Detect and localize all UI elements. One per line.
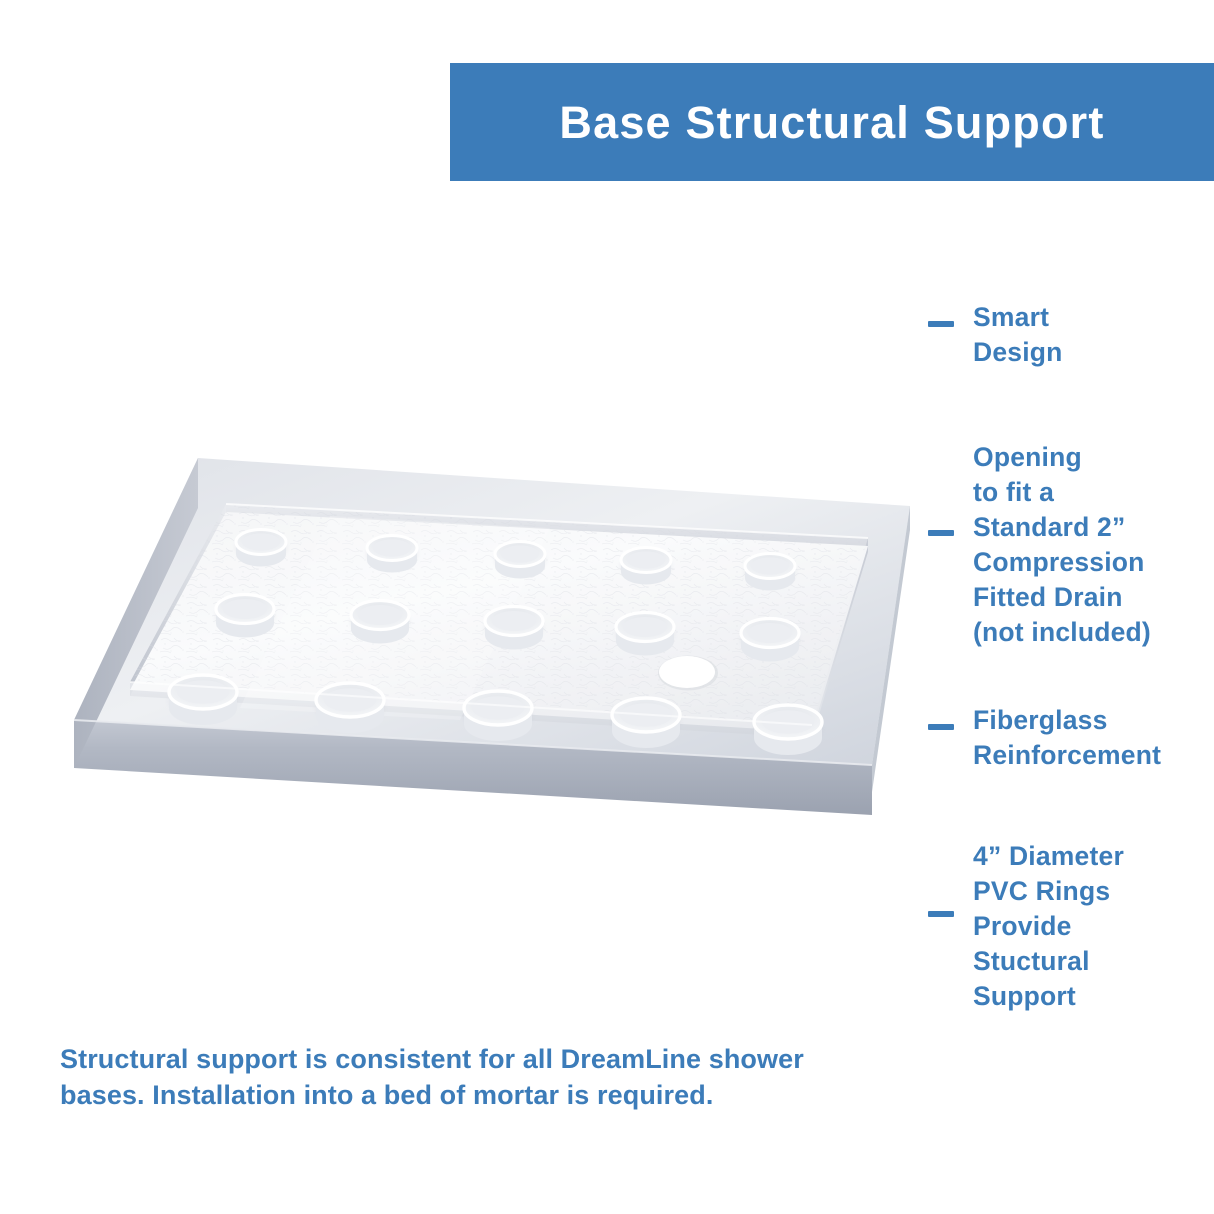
page-root: Base Structural Support bbox=[0, 0, 1214, 1214]
pvc-ring bbox=[612, 698, 680, 748]
footer-caption: Structural support is consistent for all… bbox=[60, 1041, 820, 1113]
pvc-ring bbox=[316, 683, 384, 733]
dash-marker-icon bbox=[928, 321, 954, 327]
callout-label-smart-design: Smart Design bbox=[973, 300, 1063, 370]
callout-label-drain-opening: Opening to fit a Standard 2” Compression… bbox=[973, 440, 1151, 650]
pvc-ring bbox=[745, 554, 795, 591]
pvc-ring bbox=[485, 607, 543, 650]
drain-opening bbox=[658, 656, 718, 691]
pvc-ring bbox=[621, 548, 671, 585]
pvc-ring bbox=[367, 536, 417, 573]
page-title: Base Structural Support bbox=[559, 100, 1104, 145]
callout-label-fiberglass: Fiberglass Reinforcement bbox=[973, 703, 1161, 773]
pvc-ring bbox=[495, 542, 545, 579]
pvc-ring bbox=[169, 675, 237, 725]
callout-smart-design: Smart Design bbox=[928, 300, 1063, 370]
callout-drain-opening: Opening to fit a Standard 2” Compression… bbox=[928, 440, 1151, 650]
pvc-ring bbox=[616, 613, 674, 656]
pvc-ring bbox=[351, 601, 409, 644]
shower-base-svg bbox=[30, 420, 930, 820]
callout-label-pvc-rings: 4” Diameter PVC Rings Provide Stuctural … bbox=[973, 839, 1124, 1014]
callout-fiberglass-reinforcement: Fiberglass Reinforcement bbox=[928, 703, 1161, 773]
header-banner: Base Structural Support bbox=[450, 63, 1214, 181]
pvc-ring bbox=[741, 619, 799, 662]
pvc-ring bbox=[216, 595, 274, 638]
dash-marker-icon bbox=[928, 724, 954, 730]
pvc-ring bbox=[464, 691, 532, 741]
dash-marker-icon bbox=[928, 530, 954, 536]
shower-base-illustration bbox=[30, 420, 930, 820]
dash-marker-icon bbox=[928, 911, 954, 917]
callout-pvc-rings: 4” Diameter PVC Rings Provide Stuctural … bbox=[928, 839, 1124, 1014]
pvc-ring bbox=[236, 530, 286, 567]
pvc-ring bbox=[754, 705, 822, 755]
